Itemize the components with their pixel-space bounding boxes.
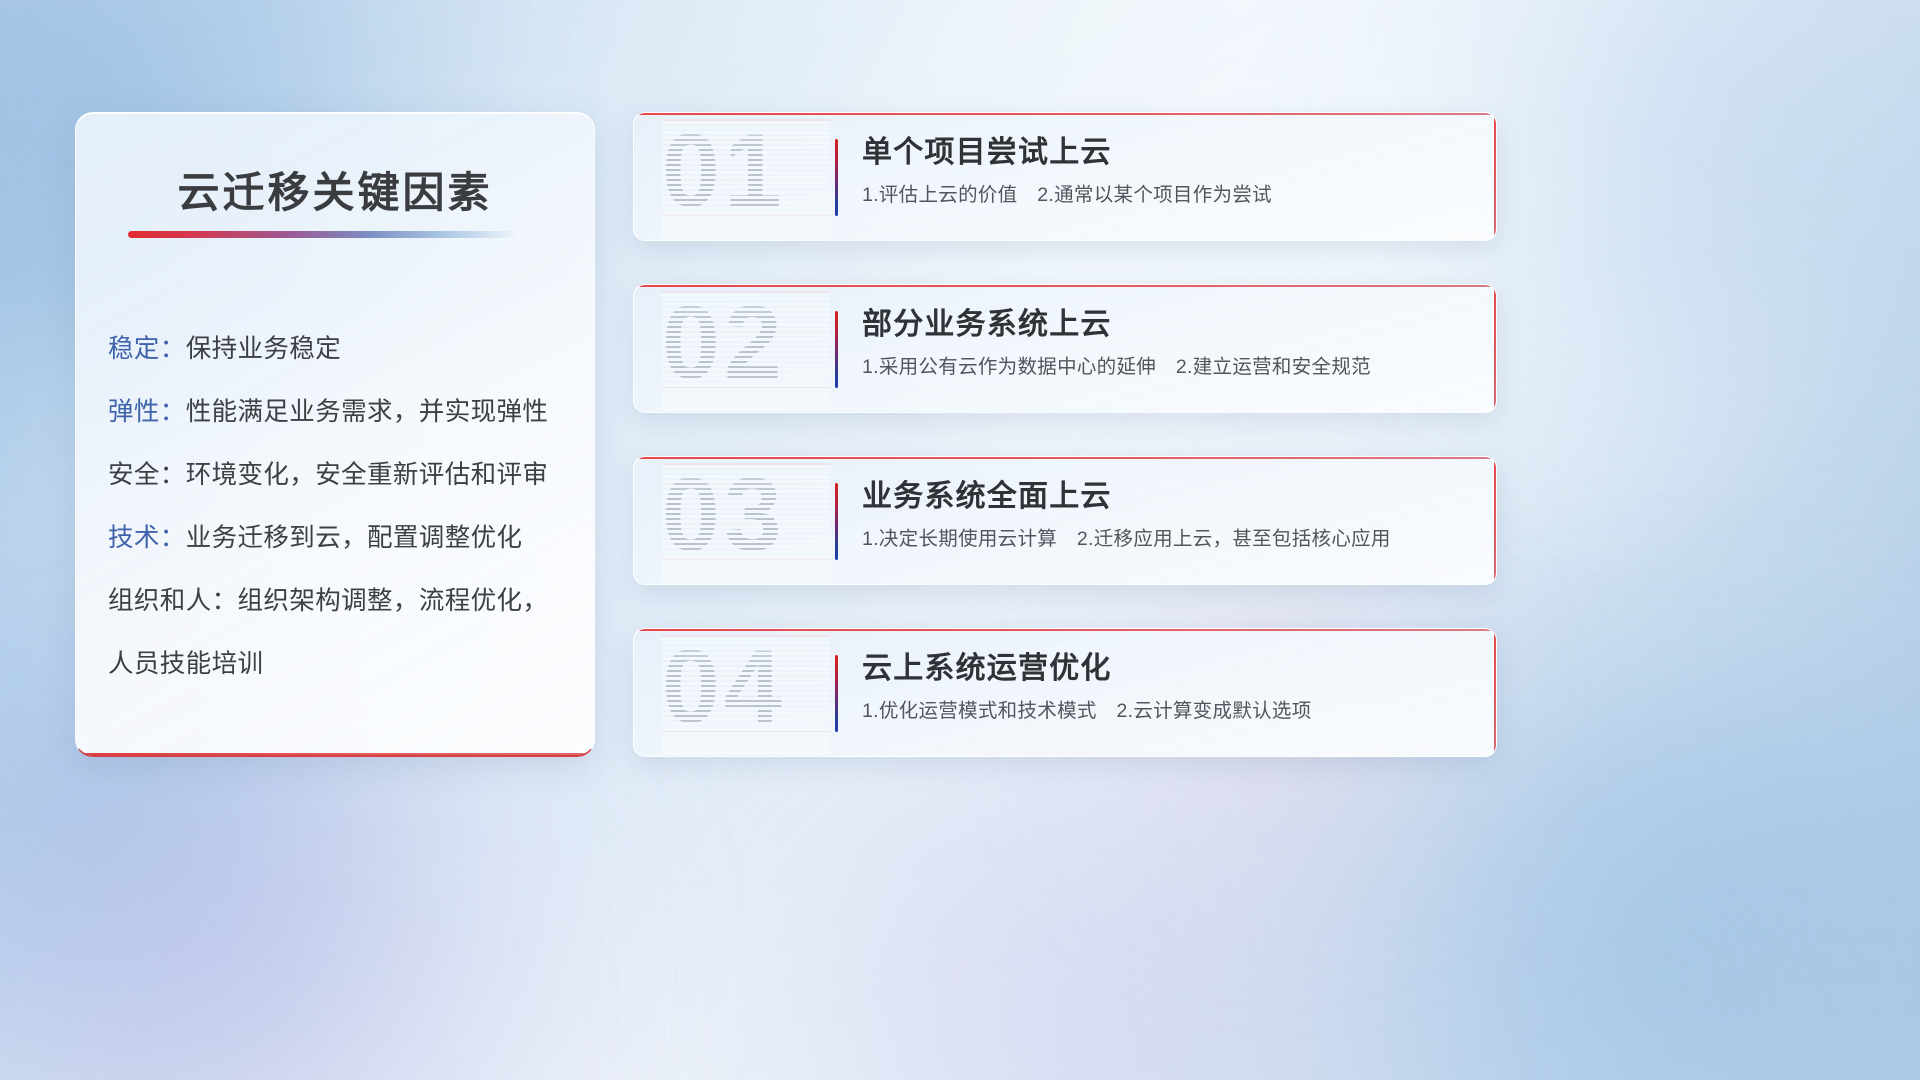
slide-stage: 云迁移关键因素 稳定：保持业务稳定弹性：性能满足业务需求，并实现弹性安全：环境变… [0,0,1920,1080]
step-number-badge: 04 [662,635,830,755]
step-body: 业务系统全面上云1.决定长期使用云计算 2.迁移应用上云，甚至包括核心应用 [862,475,1472,553]
step-divider-line [835,655,838,732]
key-factor-label: 弹性： [108,398,186,426]
key-factor-label: 组织和人： [108,587,238,615]
step-title: 单个项目尝试上云 [862,131,1472,175]
key-factor-row: 技术：业务迁移到云，配置调整优化 [108,507,568,570]
step-number-text: 02 [662,291,830,403]
step-number-badge: 03 [662,463,830,583]
step-subtitle: 1.优化运营模式和技术模式 2.云计算变成默认选项 [862,697,1472,725]
migration-step-card[interactable]: 01单个项目尝试上云1.评估上云的价值 2.通常以某个项目作为尝试 [633,112,1497,241]
key-factor-row: 弹性：性能满足业务需求，并实现弹性 [108,381,568,444]
key-factor-label: 稳定： [108,335,186,363]
step-body: 云上系统运营优化1.优化运营模式和技术模式 2.云计算变成默认选项 [862,647,1472,725]
key-factor-label: 安全： [108,461,186,489]
page-title: 云迁移关键因素 [76,159,594,220]
step-title: 云上系统运营优化 [862,647,1472,691]
step-title: 业务系统全面上云 [862,475,1472,519]
key-factor-text: 性能满足业务需求，并实现弹性 [186,398,549,426]
key-factor-text: 业务迁移到云，配置调整优化 [186,524,523,552]
key-factor-row: 安全：环境变化，安全重新评估和评审 [108,444,568,507]
key-factor-label: 技术： [108,524,186,552]
step-body: 部分业务系统上云1.采用公有云作为数据中心的延伸 2.建立运营和安全规范 [862,303,1472,381]
step-number-badge: 02 [662,291,830,411]
step-number-text: 01 [662,119,830,231]
step-number-badge: 01 [662,119,830,239]
key-factor-row: 组织和人：组织架构调整，流程优化，人员技能培训 [108,570,568,696]
step-divider-line [835,311,838,388]
step-divider-line [835,139,838,216]
step-subtitle: 1.采用公有云作为数据中心的延伸 2.建立运营和安全规范 [862,353,1472,381]
title-gradient-rule [128,231,518,238]
key-factors-panel: 云迁移关键因素 稳定：保持业务稳定弹性：性能满足业务需求，并实现弹性安全：环境变… [75,112,595,757]
step-body: 单个项目尝试上云1.评估上云的价值 2.通常以某个项目作为尝试 [862,131,1472,209]
migration-step-card[interactable]: 03业务系统全面上云1.决定长期使用云计算 2.迁移应用上云，甚至包括核心应用 [633,456,1497,585]
migration-step-card[interactable]: 02部分业务系统上云1.采用公有云作为数据中心的延伸 2.建立运营和安全规范 [633,284,1497,413]
step-subtitle: 1.决定长期使用云计算 2.迁移应用上云，甚至包括核心应用 [862,525,1472,553]
key-factor-row: 稳定：保持业务稳定 [108,318,568,381]
key-factor-text: 保持业务稳定 [186,335,341,363]
step-divider-line [835,483,838,560]
key-factors-list: 稳定：保持业务稳定弹性：性能满足业务需求，并实现弹性安全：环境变化，安全重新评估… [108,318,568,696]
step-title: 部分业务系统上云 [862,303,1472,347]
step-number-text: 04 [662,635,830,747]
step-subtitle: 1.评估上云的价值 2.通常以某个项目作为尝试 [862,181,1472,209]
key-factor-text: 环境变化，安全重新评估和评审 [186,461,549,489]
step-number-text: 03 [662,463,830,575]
migration-step-card[interactable]: 04云上系统运营优化1.优化运营模式和技术模式 2.云计算变成默认选项 [633,628,1497,757]
migration-steps-list: 01单个项目尝试上云1.评估上云的价值 2.通常以某个项目作为尝试02部分业务系… [633,112,1497,800]
